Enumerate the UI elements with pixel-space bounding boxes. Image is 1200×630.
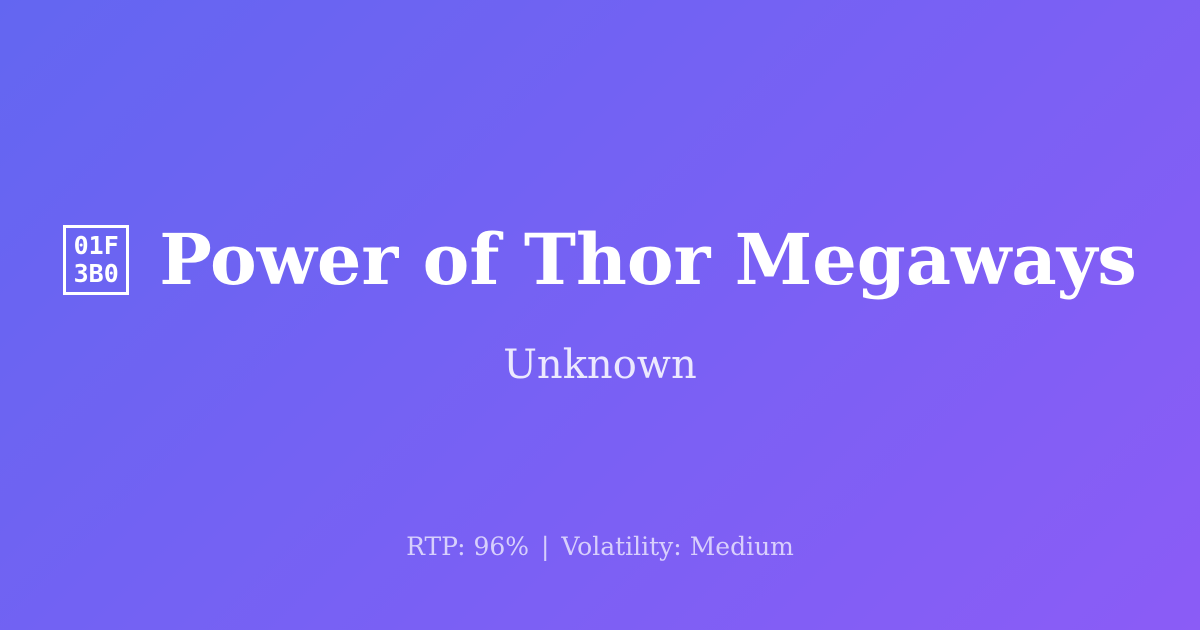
tofu-codepoint-bottom: 3B0: [74, 260, 119, 288]
page-title: Power of Thor Megaways: [159, 223, 1137, 297]
card-meta: RTP: 96% | Volatility: Medium: [0, 532, 1200, 562]
volatility-label: Volatility:: [561, 532, 681, 561]
card-subtitle: Unknown: [503, 341, 697, 389]
tofu-codepoint-top: 01F: [74, 232, 119, 260]
og-card: 01F 3B0 Power of Thor Megaways Unknown R…: [0, 0, 1200, 630]
rtp-label: RTP:: [406, 532, 465, 561]
meta-separator: |: [537, 532, 553, 561]
slot-machine-icon: 01F 3B0: [63, 225, 129, 295]
title-row: 01F 3B0 Power of Thor Megaways: [0, 223, 1200, 297]
rtp-value: 96%: [473, 532, 529, 561]
volatility-value: Medium: [690, 532, 794, 561]
